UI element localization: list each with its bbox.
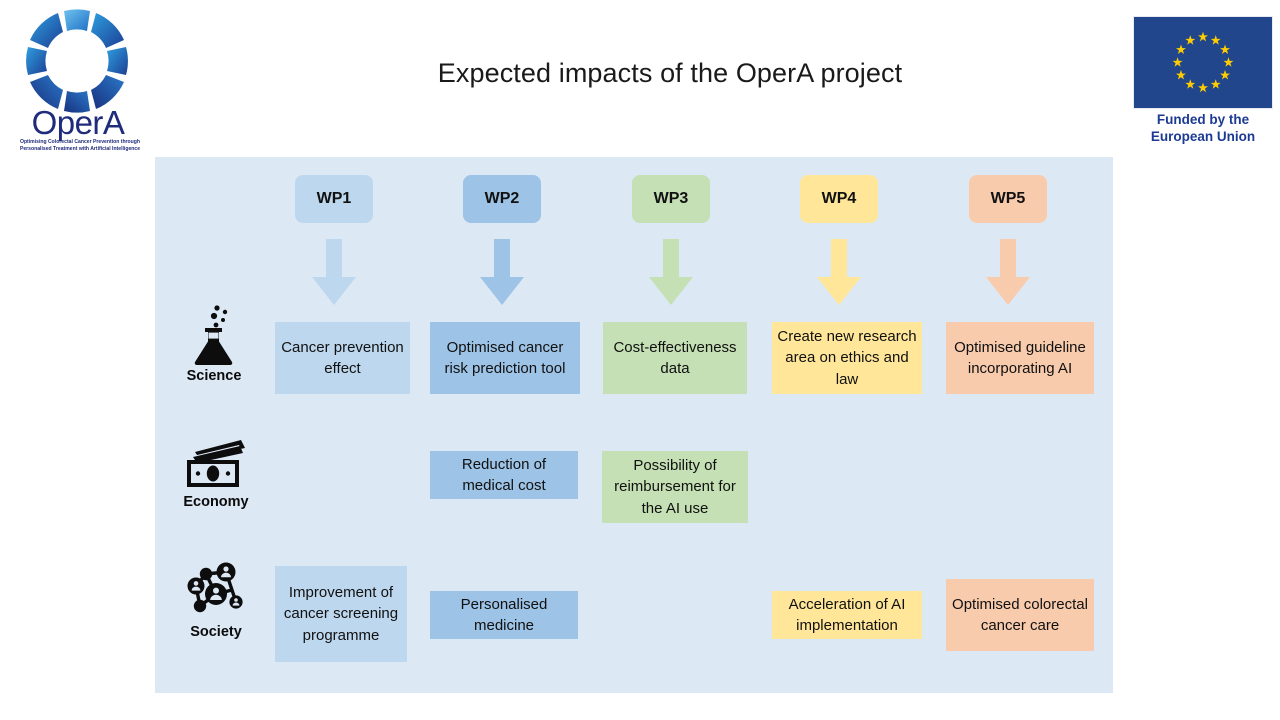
- cell-text: Optimised colorectal cancer care: [951, 594, 1089, 637]
- globe-icon: [24, 8, 130, 114]
- logo-wordmark: OperA: [8, 106, 148, 139]
- arrow-down-wp2: [479, 239, 525, 307]
- wp-header-label: WP5: [991, 190, 1026, 208]
- row-header-society: Society: [167, 560, 265, 640]
- cell-text: Reduction of medical cost: [435, 454, 573, 497]
- cell-text: Cancer prevention effect: [280, 337, 405, 380]
- logo-tagline: Optimising Colorectal Cancer Prevention …: [12, 139, 148, 154]
- cell-science-wp5[interactable]: Optimised guideline incorporating AI: [946, 322, 1094, 394]
- cell-economy-wp2[interactable]: Reduction of medical cost: [430, 451, 578, 499]
- cell-economy-wp3[interactable]: Possibility of reimbursement for the AI …: [602, 451, 748, 523]
- wp-header-label: WP3: [654, 190, 689, 208]
- opera-logo: OperA Optimising Colorectal Cancer Preve…: [8, 6, 148, 156]
- cell-text: Improvement of cancer screening programm…: [280, 582, 402, 646]
- cell-society-wp5[interactable]: Optimised colorectal cancer care: [946, 579, 1094, 651]
- wp-header-wp1[interactable]: WP1: [295, 175, 373, 223]
- wp-header-wp2[interactable]: WP2: [463, 175, 541, 223]
- eu-funding-badge: Funded by the European Union: [1128, 14, 1276, 146]
- cell-science-wp3[interactable]: Cost-effectiveness data: [603, 322, 747, 394]
- cell-text: Create new research area on ethics and l…: [777, 326, 917, 390]
- row-header-science: Science: [165, 304, 263, 384]
- arrow-down-wp4: [816, 239, 862, 307]
- cell-science-wp4[interactable]: Create new research area on ethics and l…: [772, 322, 922, 394]
- wp-header-label: WP2: [485, 190, 520, 208]
- cell-society-wp4[interactable]: Acceleration of AI implementation: [772, 591, 922, 639]
- flask-icon: [165, 304, 263, 366]
- wp-header-wp5[interactable]: WP5: [969, 175, 1047, 223]
- cell-text: Cost-effectiveness data: [608, 337, 742, 380]
- cell-society-wp1[interactable]: Improvement of cancer screening programm…: [275, 566, 407, 662]
- cell-text: Possibility of reimbursement for the AI …: [607, 455, 743, 519]
- people-network-icon: [167, 560, 265, 622]
- row-label-science: Science: [165, 368, 263, 384]
- row-label-economy: Economy: [167, 494, 265, 510]
- wp-header-wp3[interactable]: WP3: [632, 175, 710, 223]
- wp-header-wp4[interactable]: WP4: [800, 175, 878, 223]
- cell-science-wp2[interactable]: Optimised cancer risk prediction tool: [430, 322, 580, 394]
- cell-text: Optimised guideline incorporating AI: [951, 337, 1089, 380]
- eu-badge-line2: European Union: [1128, 129, 1278, 146]
- page-title: Expected impacts of the OperA project: [240, 58, 1100, 89]
- eu-badge-text: Funded by the European Union: [1128, 112, 1278, 146]
- cell-text: Acceleration of AI implementation: [777, 594, 917, 637]
- impact-matrix-panel: WP1 WP2 WP3 WP4 WP5: [155, 157, 1113, 693]
- arrow-down-wp5: [985, 239, 1031, 307]
- cell-society-wp2[interactable]: Personalised medicine: [430, 591, 578, 639]
- row-label-society: Society: [167, 624, 265, 640]
- row-header-economy: Economy: [167, 440, 265, 510]
- cell-science-wp1[interactable]: Cancer prevention effect: [275, 322, 410, 394]
- wp-header-label: WP4: [822, 190, 857, 208]
- eu-flag-icon: [1133, 16, 1273, 109]
- arrow-down-wp3: [648, 239, 694, 307]
- arrow-down-wp1: [311, 239, 357, 307]
- cell-text: Optimised cancer risk prediction tool: [435, 337, 575, 380]
- eu-badge-line1: Funded by the: [1128, 112, 1278, 129]
- wp-header-label: WP1: [317, 190, 352, 208]
- cell-text: Personalised medicine: [435, 594, 573, 637]
- banknote-icon: [167, 440, 265, 492]
